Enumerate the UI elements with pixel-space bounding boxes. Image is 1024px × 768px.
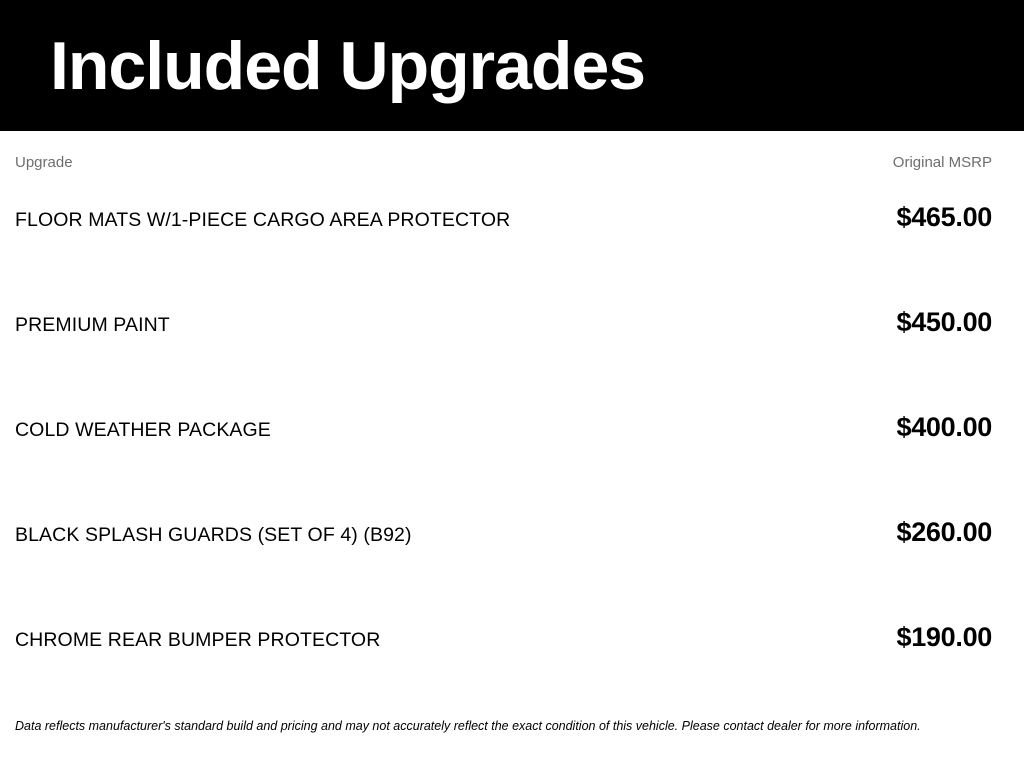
upgrade-name: COLD WEATHER PACKAGE <box>15 421 271 441</box>
upgrades-row-list: FLOOR MATS W/1-PIECE CARGO AREA PROTECTO… <box>15 204 992 729</box>
column-header-original-msrp: Original MSRP <box>893 155 992 170</box>
page-header-band: Included Upgrades <box>0 0 1024 131</box>
upgrade-price: $190.00 <box>897 624 993 651</box>
table-row: FLOOR MATS W/1-PIECE CARGO AREA PROTECTO… <box>15 204 992 309</box>
table-row: PREMIUM PAINT $450.00 <box>15 309 992 414</box>
upgrade-price: $465.00 <box>897 204 993 231</box>
table-row: CHROME REAR BUMPER PROTECTOR $190.00 <box>15 624 992 729</box>
upgrade-name: FLOOR MATS W/1-PIECE CARGO AREA PROTECTO… <box>15 211 510 231</box>
upgrade-price: $400.00 <box>897 414 993 441</box>
disclaimer-text: Data reflects manufacturer's standard bu… <box>15 719 1009 768</box>
upgrade-name: PREMIUM PAINT <box>15 316 170 336</box>
page-title: Included Upgrades <box>50 32 645 100</box>
upgrade-name: CHROME REAR BUMPER PROTECTOR <box>15 631 380 651</box>
upgrade-price: $450.00 <box>897 309 993 336</box>
column-header-upgrade: Upgrade <box>15 155 73 170</box>
upgrades-table: Upgrade Original MSRP FLOOR MATS W/1-PIE… <box>0 131 1024 768</box>
upgrade-name: BLACK SPLASH GUARDS (SET OF 4) (B92) <box>15 526 412 546</box>
table-row: COLD WEATHER PACKAGE $400.00 <box>15 414 992 519</box>
included-upgrades-page: Included Upgrades Upgrade Original MSRP … <box>0 0 1024 768</box>
table-row: BLACK SPLASH GUARDS (SET OF 4) (B92) $26… <box>15 519 992 624</box>
table-column-headers: Upgrade Original MSRP <box>15 131 992 179</box>
upgrade-price: $260.00 <box>897 519 993 546</box>
